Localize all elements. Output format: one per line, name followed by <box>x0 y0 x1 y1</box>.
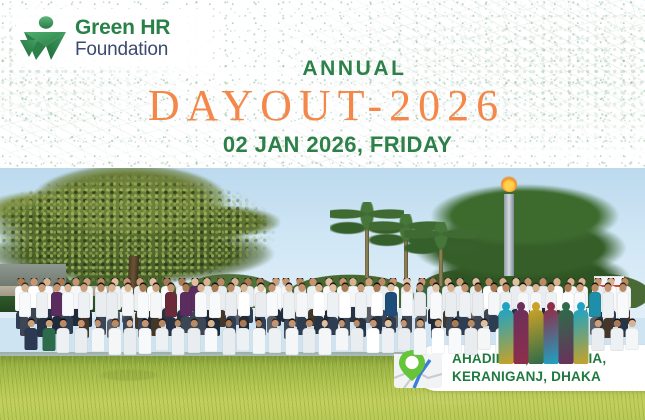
poster-root: Green HR Foundation ANNUAL DAYOUT-2026 0… <box>0 0 645 420</box>
photo-person-head <box>416 284 423 292</box>
palm-fronds <box>404 222 478 264</box>
photo-person-head <box>385 320 392 327</box>
photo-person-head <box>306 320 313 327</box>
photo-person-body <box>472 292 484 316</box>
photo-person-head <box>401 320 408 327</box>
photo-person-body <box>222 328 235 355</box>
photo-person-body <box>43 328 56 352</box>
photo-person-head <box>97 284 104 292</box>
photo-person-head <box>269 284 276 292</box>
photo-person-body <box>414 328 427 355</box>
photo-person-head <box>182 284 189 292</box>
photo-person-body <box>465 328 478 355</box>
photo-person <box>335 320 348 351</box>
photo-person <box>205 320 218 352</box>
photo-person <box>465 320 478 355</box>
photo-person-head <box>387 284 394 292</box>
photo-person-body <box>75 328 88 354</box>
photo-person-head <box>577 284 584 292</box>
photo-person-head <box>152 284 159 292</box>
photo-person-head <box>503 284 510 292</box>
brand-line-2: Foundation <box>75 40 170 59</box>
photo-person <box>123 320 136 355</box>
photo-person-body <box>286 328 299 355</box>
photo-person-body <box>385 292 397 316</box>
photo-person-head <box>433 284 440 292</box>
photo-person-body <box>165 292 177 317</box>
photo-person <box>573 302 588 364</box>
photo-person-head <box>257 284 264 292</box>
photo-person <box>558 302 573 364</box>
photo-person-body <box>397 328 410 351</box>
photo-person-body <box>109 328 122 355</box>
photo-person-head <box>299 284 306 292</box>
photo-person-head <box>620 284 627 292</box>
photo-person <box>237 320 250 351</box>
photo-person-body <box>589 292 601 317</box>
photo-person-head <box>447 284 454 292</box>
photo-person-head <box>81 284 88 292</box>
photo-person-head <box>168 284 175 292</box>
title-block: ANNUAL DAYOUT-2026 02 JAN 2026, FRIDAY <box>0 58 645 156</box>
photo-person-head <box>240 320 247 327</box>
photo-person-body <box>573 310 588 364</box>
photo-person <box>109 320 122 355</box>
photo-person-head <box>159 320 166 327</box>
photo-person-head <box>175 320 182 327</box>
photo-person-body <box>137 292 149 318</box>
photo-person-body <box>592 328 605 352</box>
photo-person-head <box>28 320 35 327</box>
photo-person <box>382 320 395 353</box>
photo-person <box>43 320 56 351</box>
photo-person-body <box>252 328 265 354</box>
photo-person-body <box>19 292 31 317</box>
photo-person <box>269 320 282 353</box>
photo-person-head <box>225 320 232 327</box>
photo-person-head <box>591 284 598 292</box>
photo-person-body <box>36 292 48 318</box>
photo-person-body <box>449 328 462 355</box>
photo-person-head <box>533 284 540 292</box>
photo-person <box>513 302 528 364</box>
photo-person-body <box>459 292 471 317</box>
photo-person-body <box>401 292 413 316</box>
photo-person-head <box>53 284 60 292</box>
photo-person-head <box>329 284 336 292</box>
photo-person <box>222 320 235 355</box>
photo-person-body <box>528 310 543 364</box>
photo-person-body <box>25 328 38 351</box>
photo-person <box>592 320 605 351</box>
photo-person-head <box>322 320 329 327</box>
photo-person <box>156 320 169 351</box>
photo-person-head <box>124 284 131 292</box>
photo-person-body <box>371 292 383 316</box>
photo-person-body <box>269 328 282 353</box>
photo-person <box>188 320 201 353</box>
brand-wordmark: Green HR Foundation <box>75 17 170 59</box>
photo-person-body <box>62 292 74 316</box>
photo-person-head <box>289 320 296 327</box>
photo-person-head <box>46 320 53 327</box>
photo-person-body <box>414 292 426 316</box>
photo-tower-shaft <box>504 194 514 276</box>
photo-person <box>498 302 513 364</box>
photo-person-head <box>404 284 411 292</box>
photo-person-body <box>91 328 104 352</box>
photo-person-body <box>238 292 250 316</box>
photo-person-head <box>272 320 279 327</box>
photo-person-body <box>266 292 278 316</box>
photo-person-head <box>22 284 29 292</box>
photo-person-body <box>123 328 136 355</box>
event-photo: AHADIPUR, KATHALIA, KERANIGANJ, DHAKA <box>0 168 645 420</box>
photo-person <box>528 302 543 364</box>
photo-person-body <box>367 328 380 354</box>
photo-person-head <box>564 284 571 292</box>
photo-person-head <box>374 284 381 292</box>
photo-person-head <box>481 320 488 327</box>
photo-person-body <box>122 292 134 316</box>
photo-person-head <box>60 320 67 327</box>
photo-person-body <box>255 292 267 317</box>
photo-person <box>414 320 427 355</box>
photo-person-body <box>318 328 331 355</box>
photo-person-head <box>191 320 198 327</box>
photo-person-head <box>316 284 323 292</box>
photo-person-body <box>498 310 513 364</box>
event-date: 02 JAN 2026, FRIDAY <box>30 134 645 156</box>
photo-person-head <box>338 320 345 327</box>
photo-person-body <box>303 328 316 353</box>
photo-person <box>75 320 88 353</box>
photo-person-head <box>435 320 442 327</box>
photo-person-head <box>357 284 364 292</box>
photo-person-body <box>327 292 339 317</box>
photo-person-head <box>452 320 459 327</box>
photo-person-head <box>353 320 360 327</box>
photo-person-head <box>127 320 134 327</box>
photo-person-body <box>558 310 573 364</box>
photo-person-head <box>417 320 424 327</box>
photo-person <box>91 320 104 352</box>
brand-line-1: Green HR <box>75 17 170 38</box>
photo-person-body <box>205 328 218 353</box>
photo-person-body <box>237 328 250 351</box>
photo-person-body <box>445 292 457 317</box>
photo-person-body <box>513 310 528 364</box>
photo-person <box>478 320 491 350</box>
photo-person-body <box>209 292 221 318</box>
green-hr-person-arrow-logo-icon <box>18 13 68 63</box>
poster-header: Green HR Foundation ANNUAL DAYOUT-2026 0… <box>0 0 645 168</box>
photo-person-head <box>208 320 215 327</box>
photo-person-head <box>468 320 475 327</box>
photo-person-head <box>109 284 116 292</box>
photo-person-body <box>195 292 207 317</box>
photo-person-body <box>188 328 201 353</box>
photo-person-body <box>626 328 639 351</box>
photo-person-body <box>171 328 184 355</box>
photo-person <box>432 320 445 354</box>
photo-person <box>397 320 410 351</box>
photo-flare-flame <box>501 176 517 192</box>
photo-person-head <box>95 320 102 327</box>
photo-person-head <box>548 284 555 292</box>
photo-person-head <box>614 320 621 327</box>
photo-person-body <box>95 292 107 317</box>
photo-person <box>171 320 184 355</box>
photo-person-head <box>342 284 349 292</box>
photo-person-body <box>335 328 348 352</box>
photo-person-head <box>241 284 248 292</box>
photo-person <box>252 320 265 354</box>
photo-person-head <box>228 284 235 292</box>
photo-person-body <box>543 310 558 364</box>
photo-person <box>318 320 331 355</box>
photo-person-head <box>520 284 527 292</box>
photo-person-body <box>478 328 491 351</box>
photo-person-head <box>629 320 636 327</box>
photo-person-head <box>491 284 498 292</box>
photo-person <box>57 320 70 353</box>
photo-person-head <box>139 284 146 292</box>
photo-person <box>139 320 152 354</box>
photo-person-head <box>285 284 292 292</box>
photo-person-head <box>112 320 119 327</box>
photo-person-body <box>432 328 445 354</box>
photo-flare-tower <box>498 176 520 276</box>
photo-person-body <box>283 292 295 319</box>
photo-person-body <box>617 292 629 318</box>
photo-person-body <box>382 328 395 354</box>
photo-person-head <box>212 284 219 292</box>
photo-person-head <box>370 320 377 327</box>
photo-person-body <box>180 292 192 316</box>
photo-person-head <box>474 284 481 292</box>
photo-person-body <box>106 292 118 319</box>
photo-person-head <box>65 284 72 292</box>
photo-person-body <box>430 292 442 319</box>
photo-person-body <box>602 292 614 318</box>
photo-person-body <box>296 292 308 317</box>
photo-person-body <box>350 328 363 352</box>
photo-person-body <box>150 292 162 318</box>
photo-person-head <box>39 284 46 292</box>
photo-person-body <box>156 328 169 351</box>
photo-person <box>449 320 462 354</box>
photo-person <box>286 320 299 355</box>
photo-person-body <box>78 292 90 318</box>
photo-person-body <box>225 292 237 316</box>
photo-person-body <box>57 328 70 354</box>
photo-crowd <box>0 278 645 364</box>
photo-person <box>611 320 624 351</box>
brand-logo: Green HR Foundation <box>16 9 211 67</box>
photo-person <box>367 320 380 353</box>
photo-person-head <box>142 320 149 327</box>
photo-person-head <box>595 320 602 327</box>
photo-person-body <box>355 292 367 318</box>
photo-person <box>626 320 639 350</box>
photo-person-body <box>139 328 152 354</box>
photo-person-head <box>462 284 469 292</box>
photo-person <box>350 320 363 352</box>
photo-person-head <box>78 320 85 327</box>
photo-person-body <box>611 328 624 352</box>
photo-person-head <box>197 284 204 292</box>
title-headline: DAYOUT-2026 <box>8 83 645 129</box>
photo-person <box>303 320 316 353</box>
photo-person <box>543 302 558 364</box>
photo-person-body <box>339 292 351 318</box>
photo-person-body <box>313 292 325 316</box>
photo-person-head <box>605 284 612 292</box>
photo-person <box>25 320 38 350</box>
photo-person-head <box>255 320 262 327</box>
